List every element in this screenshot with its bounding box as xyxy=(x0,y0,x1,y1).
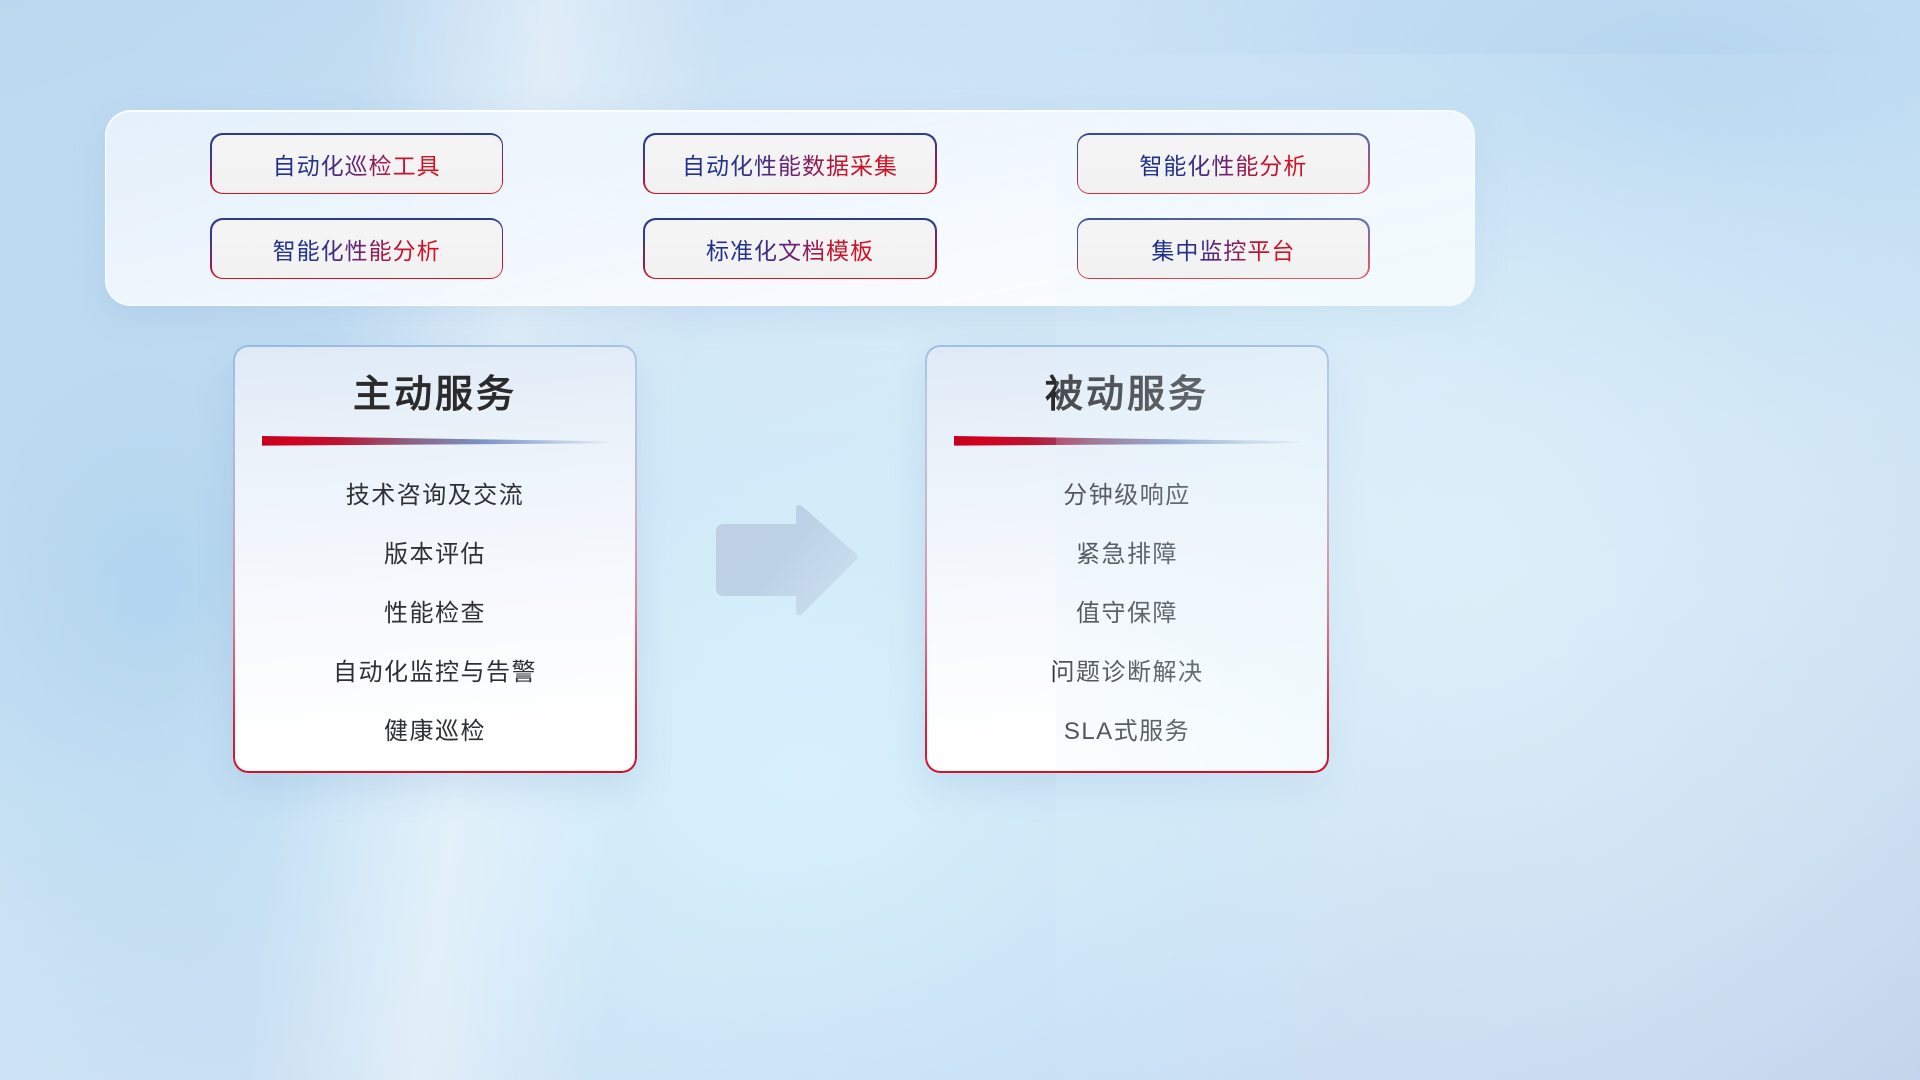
capability-pill-1[interactable]: 自动化巡检工具 xyxy=(212,135,502,193)
service-item: 问题诊断解决 xyxy=(1051,643,1204,702)
service-item: 紧急排障 xyxy=(1076,525,1178,584)
service-item: 分钟级响应 xyxy=(1063,466,1191,525)
capability-pill-label: 智能化性能分析 xyxy=(273,232,441,266)
capability-pill-label: 自动化性能数据采集 xyxy=(682,147,898,181)
service-card-body: 被动服务 xyxy=(927,347,1328,772)
service-card-proactive[interactable]: 主动服务 xyxy=(233,345,637,773)
gradient-divider xyxy=(954,434,1300,452)
capability-pill-5[interactable]: 标准化文档模板 xyxy=(645,220,935,278)
service-item-list: 技术咨询及交流 版本评估 性能检查 自动化监控与告警 健康巡检 xyxy=(235,458,636,771)
capability-pill-label: 标准化文档模板 xyxy=(706,232,874,266)
capability-pill-label: 自动化巡检工具 xyxy=(273,147,441,181)
capabilities-panel: 自动化巡检工具 自动化性能数据采集 智能化性能分析 智能化性能分析 标准化文档模… xyxy=(105,110,1475,306)
service-item-list: 分钟级响应 紧急排障 值守保障 问题诊断解决 SLA式服务 xyxy=(927,458,1328,771)
service-card-body: 主动服务 xyxy=(235,347,636,772)
service-item: SLA式服务 xyxy=(1064,702,1190,761)
service-card-title: 被动服务 xyxy=(1045,373,1209,419)
capability-pill-label: 智能化性能分析 xyxy=(1139,147,1307,181)
service-item: 值守保障 xyxy=(1076,584,1178,643)
capability-pill-label: 集中监控平台 xyxy=(1151,232,1295,266)
slide-canvas: 自动化巡检工具 自动化性能数据采集 智能化性能分析 智能化性能分析 标准化文档模… xyxy=(0,0,1920,1080)
service-item: 自动化监控与告警 xyxy=(333,643,537,702)
service-item: 健康巡检 xyxy=(384,702,486,761)
arrow-right-icon xyxy=(702,500,862,620)
capability-pill-4[interactable]: 智能化性能分析 xyxy=(212,220,502,278)
service-card-reactive[interactable]: 被动服务 xyxy=(925,345,1329,773)
service-item: 性能检查 xyxy=(384,584,486,643)
capability-pill-3[interactable]: 智能化性能分析 xyxy=(1078,135,1368,193)
capability-pill-6[interactable]: 集中监控平台 xyxy=(1078,220,1368,278)
service-item: 版本评估 xyxy=(384,525,486,584)
service-item: 技术咨询及交流 xyxy=(346,466,525,525)
service-card-title: 主动服务 xyxy=(353,373,517,419)
gradient-divider xyxy=(262,434,608,452)
capability-pill-2[interactable]: 自动化性能数据采集 xyxy=(645,135,935,193)
